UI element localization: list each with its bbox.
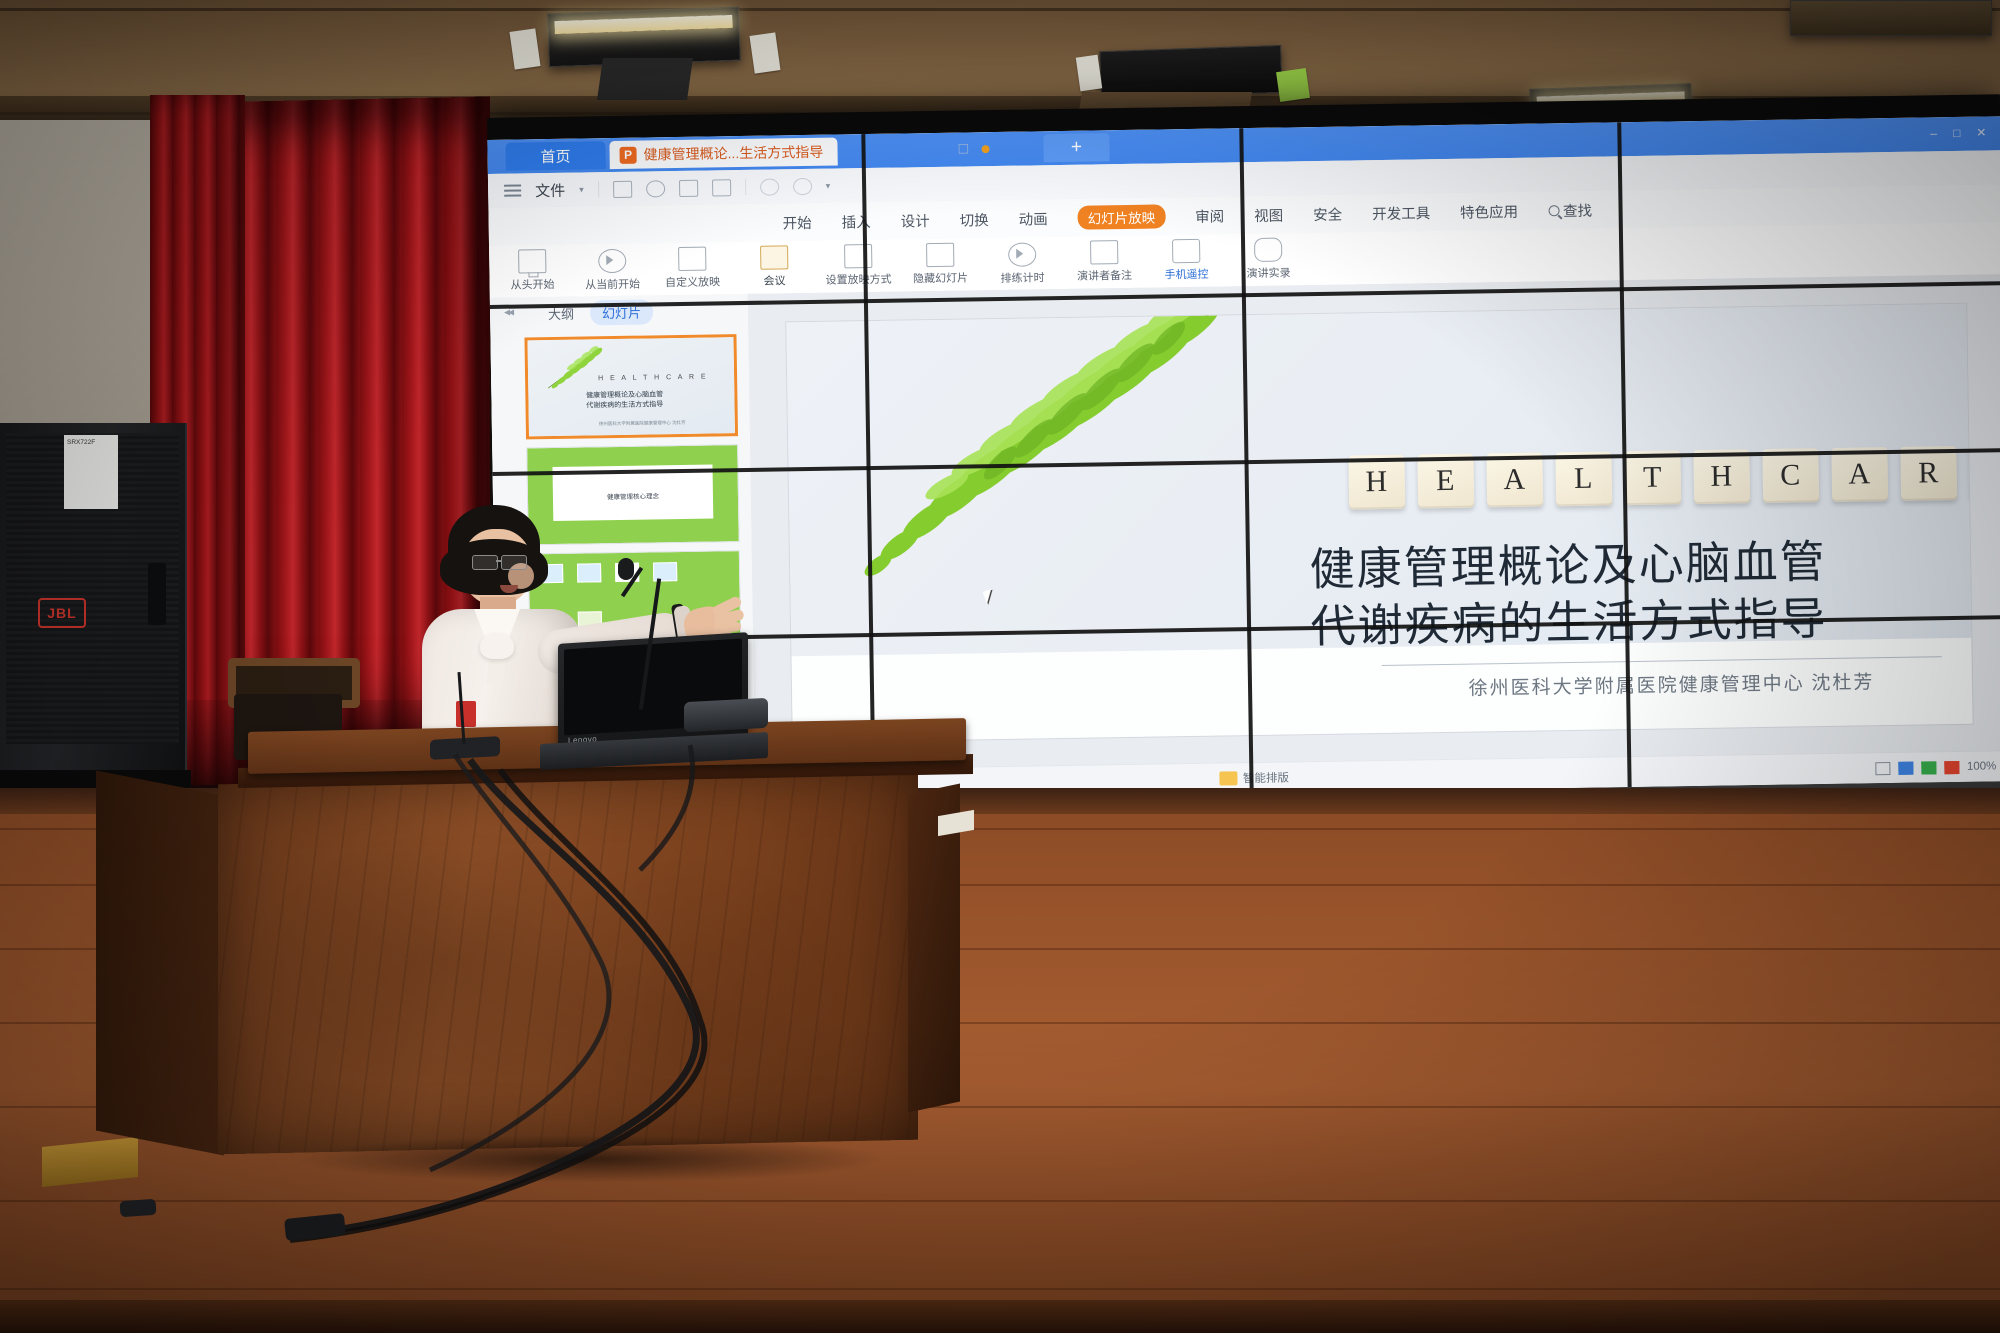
floor-cables — [0, 0, 2000, 1333]
lecture-hall-scene: 首页 P 健康管理概论...生活方式指导 ☐ + – □ ✕ — [0, 0, 2000, 1333]
cable-connector — [119, 1199, 156, 1217]
